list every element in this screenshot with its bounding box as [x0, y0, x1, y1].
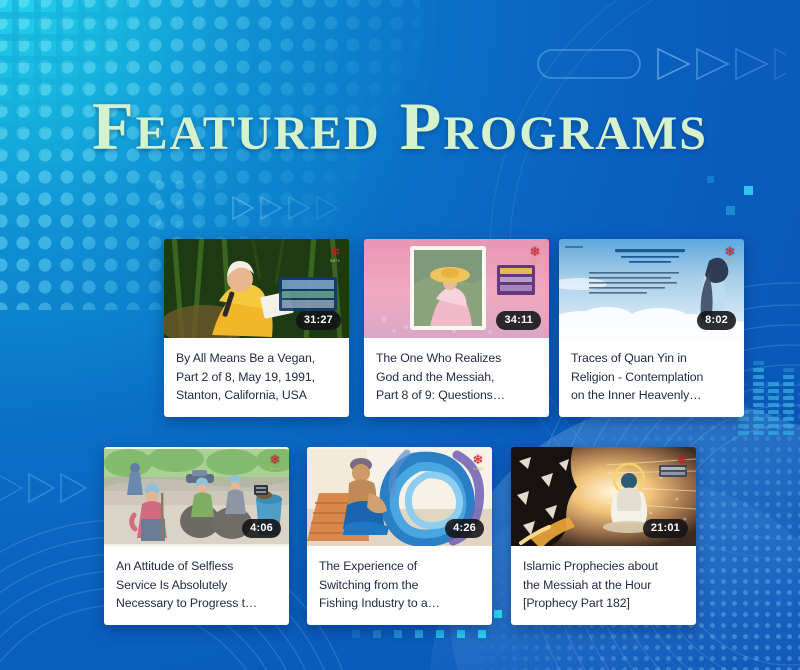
program-title-line: Islamic Prophecies about [523, 557, 684, 576]
equalizer-column [753, 361, 764, 435]
program-card[interactable]: ❄SMTV 31:27 By All Means Be a Vegan, Par… [164, 239, 349, 417]
program-title-line: The One Who Realizes [376, 349, 537, 368]
supreme-master-tv-logo-icon: ❄SMTV [721, 243, 739, 259]
program-title: The Experience of Switching from the Fis… [307, 546, 492, 625]
video-duration-badge: 4:06 [242, 519, 281, 538]
program-thumbnail[interactable]: ❄SMTV 8:02 [559, 239, 744, 338]
supreme-master-tv-logo-icon: ❄SMTV [526, 243, 544, 259]
program-title-line: An Attitude of Selfless [116, 557, 277, 576]
supreme-master-tv-logo-icon: ❄SMTV [673, 451, 691, 467]
program-title-line: Service Is Absolutely [116, 576, 277, 595]
accent-square [744, 186, 753, 195]
program-title-line: Traces of Quan Yin in [571, 349, 732, 368]
supreme-master-tv-logo-icon: ❄SMTV [469, 451, 487, 467]
video-duration-badge: 34:11 [496, 311, 541, 330]
video-duration-badge: 31:27 [296, 311, 341, 330]
program-title-line: Religion - Contemplation [571, 368, 732, 387]
accent-square [726, 206, 735, 215]
program-title: By All Means Be a Vegan, Part 2 of 8, Ma… [164, 338, 349, 417]
program-title: An Attitude of Selfless Service Is Absol… [104, 546, 289, 625]
program-title-line: Switching from the [319, 576, 480, 595]
program-thumbnail[interactable]: ❄SMTV 4:26 [307, 447, 492, 546]
program-title-line: The Experience of [319, 557, 480, 576]
program-title: The One Who Realizes God and the Messiah… [364, 338, 549, 417]
square-dot-row-bottom [352, 630, 486, 638]
program-title-line: Necessary to Progress t… [116, 594, 277, 613]
program-title-line: By All Means Be a Vegan, [176, 349, 337, 368]
equalizer-column [768, 382, 779, 435]
supreme-master-tv-logo-icon: ❄SMTV [266, 451, 284, 467]
program-thumbnail[interactable]: ❄SMTV 21:01 [511, 447, 696, 546]
program-thumbnail[interactable]: ❄SMTV 34:11 [364, 239, 549, 338]
program-thumbnail[interactable]: ❄SMTV 4:06 [104, 447, 289, 546]
supreme-master-tv-logo-icon: ❄SMTV [326, 243, 344, 259]
program-card[interactable]: ❄SMTV 34:11 The One Who Realizes God and… [364, 239, 549, 417]
program-title-line: Part 8 of 9: Questions… [376, 386, 537, 405]
program-title: Islamic Prophecies about the Messiah at … [511, 546, 696, 625]
bottom-left-play-triangles [0, 470, 106, 508]
equalizer-column [783, 368, 794, 435]
accent-square [707, 176, 714, 183]
video-duration-badge: 8:02 [697, 311, 736, 330]
program-title-line: [Prophecy Part 182] [523, 594, 684, 613]
video-duration-badge: 21:01 [643, 519, 688, 538]
program-card[interactable]: ❄SMTV 21:01 Islamic Prophecies about the… [511, 447, 696, 625]
mid-left-play-triangles [232, 194, 342, 224]
page-title: Featured Programs [0, 92, 800, 160]
program-title: Traces of Quan Yin in Religion - Contemp… [559, 338, 744, 417]
program-title-line: Part 2 of 8, May 19, 1991, [176, 368, 337, 387]
program-card[interactable]: ❄SMTV 4:06 An Attitude of Selfless Servi… [104, 447, 289, 625]
program-card[interactable]: ❄SMTV 4:26 The Experience of Switching f… [307, 447, 492, 625]
program-thumbnail[interactable]: ❄SMTV 31:27 [164, 239, 349, 338]
program-title-line: Stanton, California, USA [176, 386, 337, 405]
top-right-play-triangles [536, 42, 786, 88]
program-title-line: on the Inner Heavenly… [571, 386, 732, 405]
program-title-line: Fishing Industry to a… [319, 594, 480, 613]
program-title-line: the Messiah at the Hour [523, 576, 684, 595]
equalizer-bars-decoration [738, 300, 800, 435]
video-duration-badge: 4:26 [445, 519, 484, 538]
program-title-line: God and the Messiah, [376, 368, 537, 387]
program-card[interactable]: ❄SMTV 8:02 Traces of Quan Yin in Religio… [559, 239, 744, 417]
